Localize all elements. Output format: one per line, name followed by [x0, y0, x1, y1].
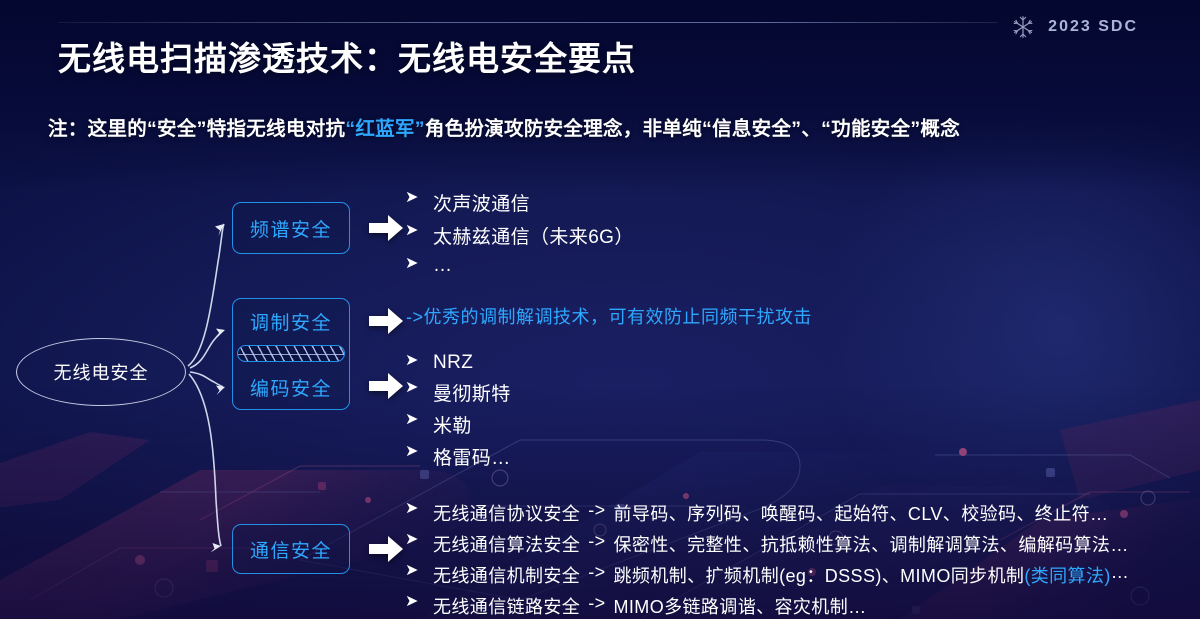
- slide-root: 2023 SDC 无线电扫描渗透技术：无线电安全要点 注：这里的“安全”特指无线…: [0, 0, 1200, 619]
- chevron-bullet-icon: ➤: [405, 443, 433, 461]
- chevron-bullet-icon: ➤: [405, 222, 433, 240]
- root-node-label: 无线电安全: [54, 359, 149, 385]
- list-item-label: …: [433, 255, 452, 277]
- node-communication-security[interactable]: 通信安全: [232, 524, 350, 574]
- block-arrow-right-icon: [368, 534, 404, 564]
- list-item-detail: 前导码、序列码、唤醒码、起始符、CLV、校验码、终止符…: [614, 500, 1109, 526]
- chevron-bullet-icon: ➤: [405, 352, 433, 370]
- list-item-label: 曼彻斯特: [433, 379, 511, 406]
- chevron-bullet-icon: ➤: [405, 593, 433, 611]
- chevron-bullet-icon: ➤: [405, 500, 433, 518]
- node-encoding-label: 编码安全: [233, 371, 349, 403]
- list-item-label: 次声波通信: [433, 189, 530, 216]
- list-item-name: 无线通信算法安全: [433, 531, 580, 557]
- list-item: ➤ 次声波通信: [405, 189, 634, 216]
- list-item: ➤ 无线通信链路安全 -> MIMO多链路调谐、容灾机制…: [405, 593, 1129, 619]
- list-item-name: 无线通信机制安全: [433, 562, 580, 588]
- block-arrow-right-icon: [368, 371, 404, 401]
- chevron-bullet-icon: ➤: [405, 189, 433, 207]
- list-item: ➤ 无线通信机制安全 -> 跳频机制、扩频机制(eg：DSSS)、MIMO同步机…: [405, 562, 1129, 588]
- list-item-separator: ->: [580, 562, 613, 583]
- list-item-label: 太赫兹通信（未来6G）: [433, 222, 634, 249]
- list-item-detail-tail: …: [1111, 562, 1129, 583]
- group-encoding-items: ➤ NRZ ➤ 曼彻斯特 ➤ 米勒 ➤ 格雷码…: [405, 352, 511, 475]
- node-spectrum-label: 频谱安全: [250, 215, 332, 242]
- block-arrow-right-icon: [368, 213, 404, 243]
- list-item: ➤ 曼彻斯特: [405, 379, 511, 406]
- chevron-bullet-icon: ➤: [405, 411, 433, 429]
- group-spectrum-items: ➤ 次声波通信 ➤ 太赫兹通信（未来6G） ➤ …: [405, 189, 634, 283]
- block-arrow-right-icon: [368, 306, 404, 336]
- list-item-separator: ->: [580, 531, 613, 552]
- chevron-bullet-icon: ➤: [405, 531, 433, 549]
- list-item-separator: ->: [580, 593, 613, 614]
- list-item-label: 格雷码…: [433, 443, 511, 470]
- list-item-label: 米勒: [433, 411, 472, 438]
- node-spectrum-security[interactable]: 频谱安全: [232, 202, 350, 254]
- hatched-pill-divider-icon: [237, 345, 345, 362]
- chevron-bullet-icon: ➤: [405, 562, 433, 580]
- list-item-detail: 保密性、完整性、抗抵赖性算法、调制解调算法、编解码算法…: [614, 531, 1129, 557]
- list-item: ➤ 无线通信协议安全 -> 前导码、序列码、唤醒码、起始符、CLV、校验码、终止…: [405, 500, 1129, 526]
- list-item-name: 无线通信协议安全: [433, 500, 580, 526]
- chevron-bullet-icon: ➤: [405, 379, 433, 397]
- group-communication-items: ➤ 无线通信协议安全 -> 前导码、序列码、唤醒码、起始符、CLV、校验码、终止…: [405, 500, 1129, 619]
- list-item: ➤ 格雷码…: [405, 443, 511, 470]
- list-item-detail-highlight: (类同算法): [1024, 562, 1110, 588]
- node-communication-label: 通信安全: [250, 536, 332, 563]
- list-item: ➤ NRZ: [405, 352, 511, 374]
- list-item: ➤ …: [405, 255, 634, 277]
- node-modulation-label: 调制安全: [233, 305, 349, 337]
- list-item-label: NRZ: [433, 352, 473, 374]
- chevron-bullet-icon: ➤: [405, 255, 433, 273]
- root-node-radio-security[interactable]: 无线电安全: [16, 338, 186, 406]
- group-modulation-note: ->优秀的调制解调技术，可有效防止同频干扰攻击: [406, 303, 812, 329]
- modulation-note-text: ->优秀的调制解调技术，可有效防止同频干扰攻击: [406, 307, 812, 327]
- list-item-detail: MIMO多链路调谐、容灾机制…: [614, 593, 867, 619]
- list-item-name: 无线通信链路安全: [433, 593, 580, 619]
- list-item-separator: ->: [580, 500, 613, 521]
- list-item: ➤ 太赫兹通信（未来6G）: [405, 222, 634, 249]
- list-item: ➤ 无线通信算法安全 -> 保密性、完整性、抗抵赖性算法、调制解调算法、编解码算…: [405, 531, 1129, 557]
- list-item-detail: 跳频机制、扩频机制(eg：DSSS)、MIMO同步机制: [614, 562, 1025, 588]
- list-item: ➤ 米勒: [405, 411, 511, 438]
